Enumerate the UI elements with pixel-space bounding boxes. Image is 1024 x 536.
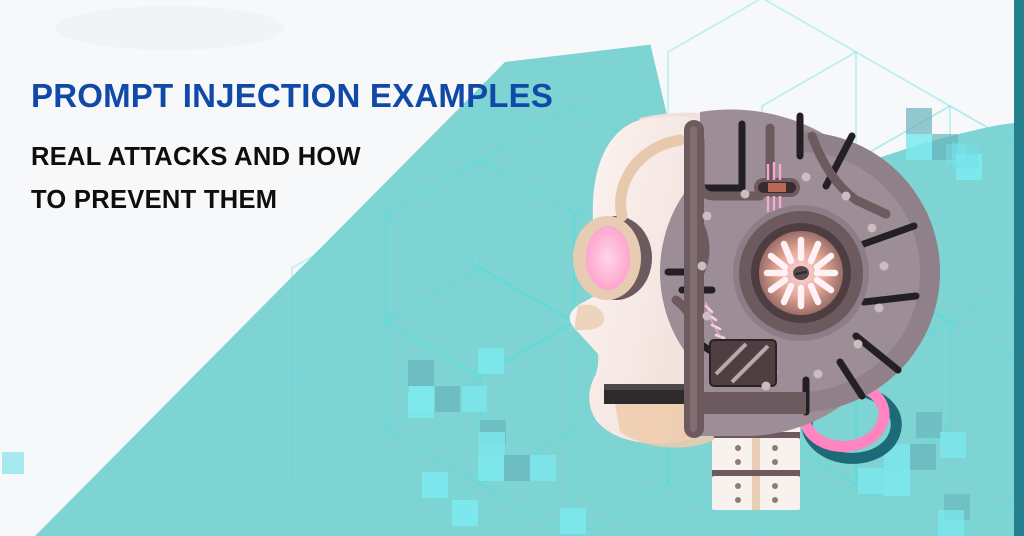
page-title: PROMPT INJECTION EXAMPLES [31, 78, 631, 114]
watermark-ghost [55, 6, 285, 50]
right-edge-strip [1014, 0, 1024, 536]
headline-group: PROMPT INJECTION EXAMPLES REAL ATTACKS A… [31, 78, 631, 223]
subtitle-line-1: REAL ATTACKS AND HOW [31, 136, 631, 180]
subtitle: REAL ATTACKS AND HOW TO PREVENT THEM [31, 114, 631, 224]
promo-banner: PROMPT INJECTION EXAMPLES REAL ATTACKS A… [0, 0, 1024, 536]
subtitle-line-2: TO PREVENT THEM [31, 179, 631, 223]
